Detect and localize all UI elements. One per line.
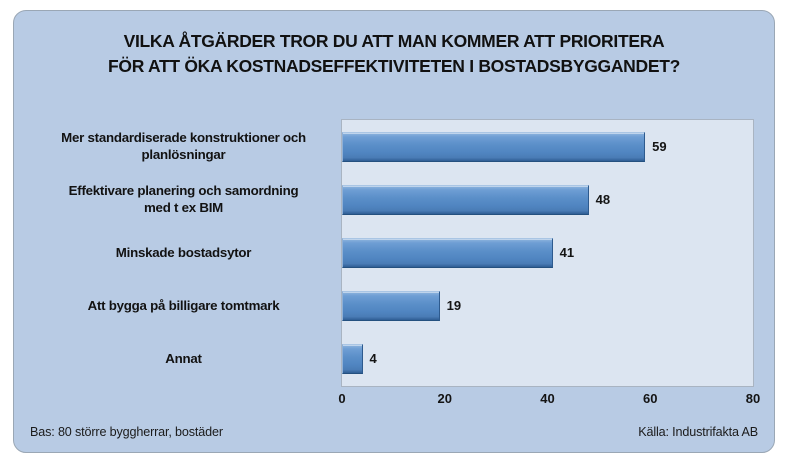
footer-source-note: Källa: Industrifakta AB xyxy=(638,425,758,439)
category-label-line: planlösningar xyxy=(26,146,341,163)
category-label-line: Mer standardiserade konstruktioner och xyxy=(26,129,341,146)
bar-value-label-1: 59 xyxy=(652,139,666,154)
x-axis-tick-80: 80 xyxy=(746,391,760,406)
category-label-line: Minskade bostadsytor xyxy=(26,244,341,261)
x-axis-tick-0: 0 xyxy=(338,391,345,406)
x-axis-tick-20: 20 xyxy=(438,391,452,406)
chart-title-line-2: FÖR ATT ÖKA KOSTNADSEFFEKTIVITETEN I BOS… xyxy=(14,54,774,79)
category-axis: Mer standardiserade konstruktioner ochpl… xyxy=(26,119,341,387)
bar-2 xyxy=(342,185,589,215)
x-axis-tick-40: 40 xyxy=(540,391,554,406)
bar-5 xyxy=(342,344,363,374)
bar-value-label-2: 48 xyxy=(596,192,610,207)
bar-value-label-3: 41 xyxy=(560,245,574,260)
plot-area: 594841194 xyxy=(341,119,754,387)
category-label-1: Mer standardiserade konstruktioner ochpl… xyxy=(26,129,341,163)
category-label-5: Annat xyxy=(26,350,341,367)
category-label-2: Effektivare planering och samordningmed … xyxy=(26,182,341,216)
bar-1 xyxy=(342,132,645,162)
category-label-4: Att bygga på billigare tomtmark xyxy=(26,297,341,314)
bar-value-label-5: 4 xyxy=(370,351,377,366)
category-label-3: Minskade bostadsytor xyxy=(26,244,341,261)
category-label-line: Att bygga på billigare tomtmark xyxy=(26,297,341,314)
category-label-line: med t ex BIM xyxy=(26,199,341,216)
bar-4 xyxy=(342,291,440,321)
chart-title-line-1: VILKA ÅTGÄRDER TROR DU ATT MAN KOMMER AT… xyxy=(14,29,774,54)
category-label-line: Annat xyxy=(26,350,341,367)
category-label-line: Effektivare planering och samordning xyxy=(26,182,341,199)
x-axis-tick-60: 60 xyxy=(643,391,657,406)
footer-base-note: Bas: 80 större byggherrar, bostäder xyxy=(30,425,223,439)
value-axis: 020406080 xyxy=(341,391,754,411)
bar-value-label-4: 19 xyxy=(447,298,461,313)
chart-title: VILKA ÅTGÄRDER TROR DU ATT MAN KOMMER AT… xyxy=(14,29,774,79)
bar-3 xyxy=(342,238,553,268)
chart-card: VILKA ÅTGÄRDER TROR DU ATT MAN KOMMER AT… xyxy=(13,10,775,453)
